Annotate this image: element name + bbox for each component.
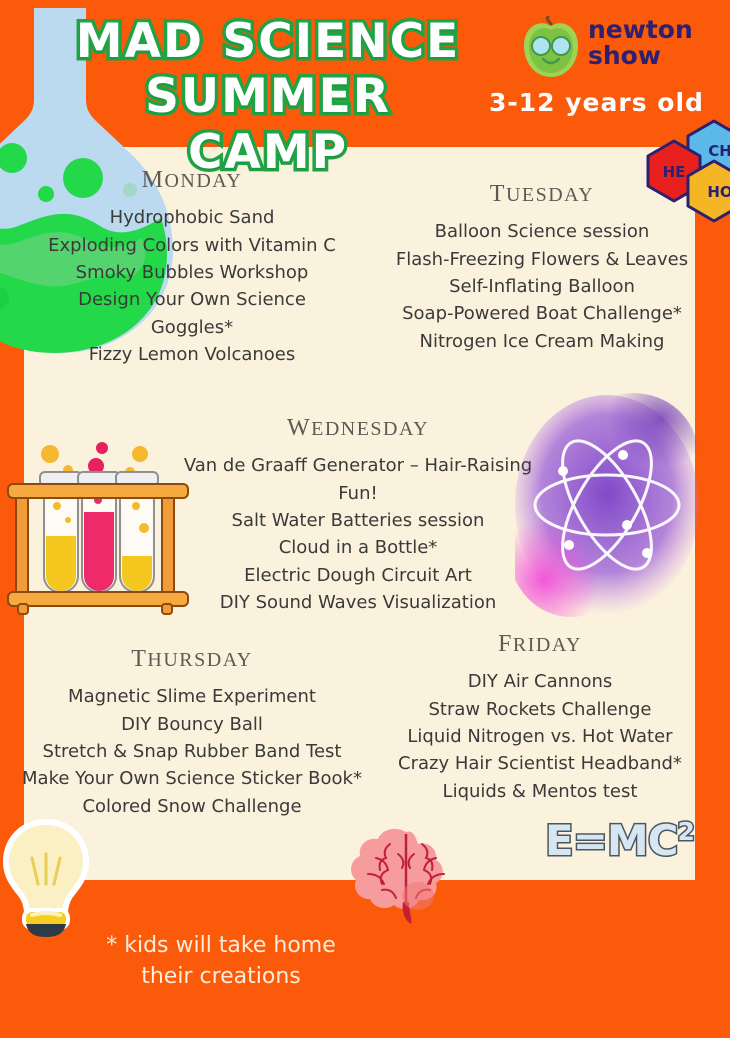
brand-name-line2: show [588,43,693,69]
activity-item: Liquids & Mentos test [370,778,710,805]
activity-item: Salt Water Batteries session [178,507,538,534]
activity-item: Flash-Freezing Flowers & Leaves [372,246,712,273]
activity-item: Goggles* [18,314,366,341]
brain-icon [346,826,466,926]
activity-item: Cloud in a Bottle* [178,534,538,561]
activity-item: DIY Sound Waves Visualization [178,589,538,616]
apple-mascot-icon [520,16,582,78]
activity-item: Liquid Nitrogen vs. Hot Water [370,723,710,750]
activity-item: Make Your Own Science Sticker Book* [12,765,372,792]
brand-name-line1: newton [588,17,693,43]
test-tube-rack-icon [2,440,194,620]
activity-item: DIY Air Cannons [370,668,710,695]
emc2-sticker: E=MC2 [545,816,695,878]
brand-name: newton show [588,17,693,68]
day-column-friday: Friday DIY Air Cannons Straw Rockets Cha… [370,622,710,805]
poster-root: MAD SCIENCE SUMMER CAMP newton show 3-12… [0,0,730,1038]
activity-item: Stretch & Snap Rubber Band Test [12,738,372,765]
activity-item: Design Your Own Science [18,286,366,313]
brand-logo: newton show [520,14,730,84]
title-line-2: SUMMER CAMP [58,69,478,180]
activity-item: Nitrogen Ice Cream Making [372,328,712,355]
emc2-exponent: 2 [678,817,694,846]
footnote-line-2: their creations [96,961,346,992]
activity-list-monday: Hydrophobic Sand Exploding Colors with V… [18,204,366,368]
activity-item: Fizzy Lemon Volcanoes [18,341,366,368]
activity-list-thursday: Magnetic Slime Experiment DIY Bouncy Bal… [12,683,372,820]
hexagon-ch-label: CH [708,142,730,160]
activity-list-wednesday: Van de Graaff Generator – Hair-Raising F… [178,452,538,616]
emc2-formula: E=MC2 [545,816,694,865]
title-line-1: MAD SCIENCE [58,14,478,69]
hexagon-ho-label: HO [707,183,730,201]
activity-item: Van de Graaff Generator – Hair-Raising F… [178,452,538,507]
day-column-monday: Monday Hydrophobic Sand Exploding Colors… [18,158,366,369]
activity-item: Electric Dough Circuit Art [178,562,538,589]
atom-icon [515,393,700,623]
activity-item: Colored Snow Challenge [12,793,372,820]
activity-list-friday: DIY Air Cannons Straw Rockets Challenge … [370,668,710,805]
activity-item: Exploding Colors with Vitamin C [18,232,366,259]
activity-list-tuesday: Balloon Science session Flash-Freezing F… [372,218,712,355]
activity-item: Straw Rockets Challenge [370,696,710,723]
activity-item: Crazy Hair Scientist Headband* [370,750,710,777]
footnote: * kids will take home their creations [96,930,346,992]
activity-item: Soap-Powered Boat Challenge* [372,300,712,327]
activity-item: Magnetic Slime Experiment [12,683,372,710]
emc2-main: E=MC [545,816,678,865]
footnote-line-1: * kids will take home [96,930,346,961]
hexagon-he-label: HE [663,163,686,181]
activity-item: DIY Bouncy Ball [12,711,372,738]
activity-item: Smoky Bubbles Workshop [18,259,366,286]
day-column-thursday: Thursday Magnetic Slime Experiment DIY B… [12,637,372,820]
day-heading-wednesday: Wednesday [178,406,538,443]
lightbulb-icon [0,818,94,938]
element-hexagons: CH HE HO [626,104,730,234]
activity-item: Hydrophobic Sand [18,204,366,231]
activity-item: Self-Inflating Balloon [372,273,712,300]
day-heading-thursday: Thursday [12,637,372,674]
day-column-wednesday: Wednesday Van de Graaff Generator – Hair… [178,406,538,617]
age-range-label: 3-12 years old [489,88,704,117]
day-heading-friday: Friday [370,622,710,659]
poster-title: MAD SCIENCE SUMMER CAMP [58,14,478,180]
